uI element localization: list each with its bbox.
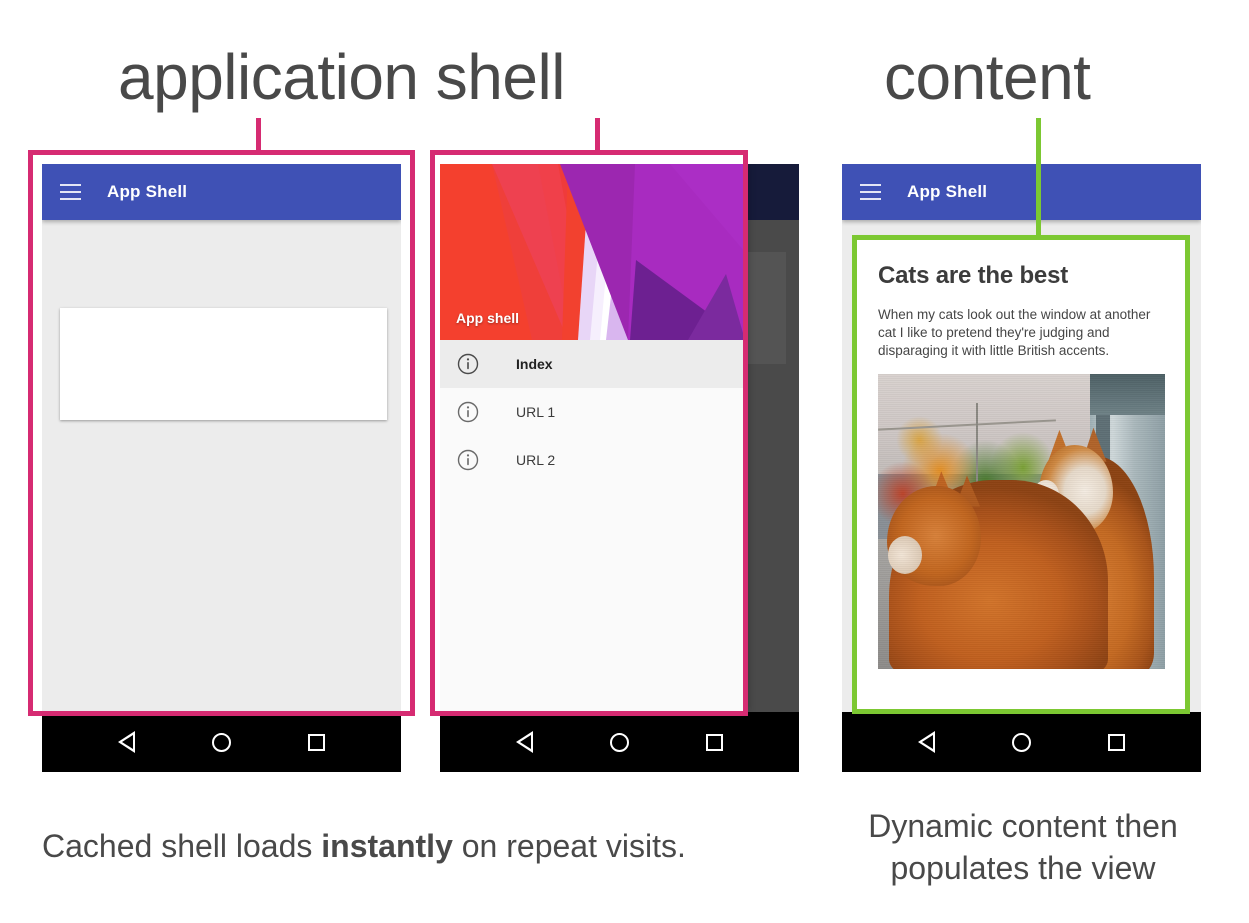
diagram-canvas: application shell content App Shell	[0, 0, 1249, 923]
connector-line-pink-right	[595, 118, 600, 152]
caption-left-prefix: Cached shell loads	[42, 828, 321, 864]
phone2-android-navbar	[440, 712, 799, 772]
recents-square-icon[interactable]	[706, 734, 723, 751]
recents-square-icon[interactable]	[1108, 734, 1125, 751]
drawer-item-url-1[interactable]: URL 1	[440, 388, 745, 436]
drawer-item-list: Index URL 1	[440, 340, 745, 484]
article-body: When my cats look out the window at anot…	[878, 306, 1165, 360]
phone3-appbar-title: App Shell	[907, 182, 987, 202]
hamburger-icon[interactable]	[860, 184, 881, 200]
article-card: Cats are the best When my cats look out …	[856, 236, 1187, 712]
connector-line-green	[1036, 118, 1041, 240]
phone3-appbar: App Shell	[842, 164, 1201, 220]
annotation-label-content: content	[884, 40, 1090, 114]
drawer-header-image: App shell	[440, 164, 745, 340]
info-icon	[456, 352, 480, 376]
drawer-item-url-2[interactable]: URL 2	[440, 436, 745, 484]
back-triangle-icon[interactable]	[918, 731, 935, 753]
drawer-item-label: Index	[516, 356, 553, 372]
phone1-appbar: App Shell	[42, 164, 401, 220]
caption-left-emphasis: instantly	[321, 828, 453, 864]
article-title: Cats are the best	[878, 262, 1165, 290]
back-triangle-icon[interactable]	[516, 731, 533, 753]
recents-square-icon[interactable]	[308, 734, 325, 751]
phone-mockup-content: App Shell Cats are the best When my cats…	[842, 164, 1201, 772]
photo-texture-overlay	[878, 374, 1165, 669]
phone-mockup-app-shell: App Shell	[42, 164, 401, 772]
caption-left: Cached shell loads instantly on repeat v…	[42, 828, 686, 865]
info-icon	[456, 400, 480, 424]
info-icon	[456, 448, 480, 472]
home-circle-icon[interactable]	[610, 733, 629, 752]
phone2-screen: App shell Index	[440, 164, 799, 712]
home-circle-icon[interactable]	[1012, 733, 1031, 752]
drawer-item-label: URL 1	[516, 404, 555, 420]
drawer-item-index[interactable]: Index	[440, 340, 745, 388]
phone3-body[interactable]: Cats are the best When my cats look out …	[842, 220, 1201, 712]
article-photo	[878, 374, 1165, 669]
empty-content-card	[60, 308, 387, 420]
phone-mockup-navigation-drawer: App shell Index	[440, 164, 799, 772]
hamburger-icon[interactable]	[60, 184, 81, 200]
caption-right: Dynamic content then populates the view	[840, 805, 1206, 889]
drawer-item-label: URL 2	[516, 452, 555, 468]
phone1-screen: App Shell	[42, 164, 401, 712]
phone1-body	[42, 220, 401, 712]
phone1-appbar-title: App Shell	[107, 182, 187, 202]
phone3-screen: App Shell Cats are the best When my cats…	[842, 164, 1201, 712]
caption-left-suffix: on repeat visits.	[453, 828, 686, 864]
phone1-android-navbar	[42, 712, 401, 772]
home-circle-icon[interactable]	[212, 733, 231, 752]
drawer-header-label: App shell	[456, 310, 519, 326]
connector-line-pink-left	[256, 118, 261, 152]
phone3-android-navbar	[842, 712, 1201, 772]
back-triangle-icon[interactable]	[118, 731, 135, 753]
annotation-label-application-shell: application shell	[118, 40, 565, 114]
navigation-drawer: App shell Index	[440, 164, 745, 712]
